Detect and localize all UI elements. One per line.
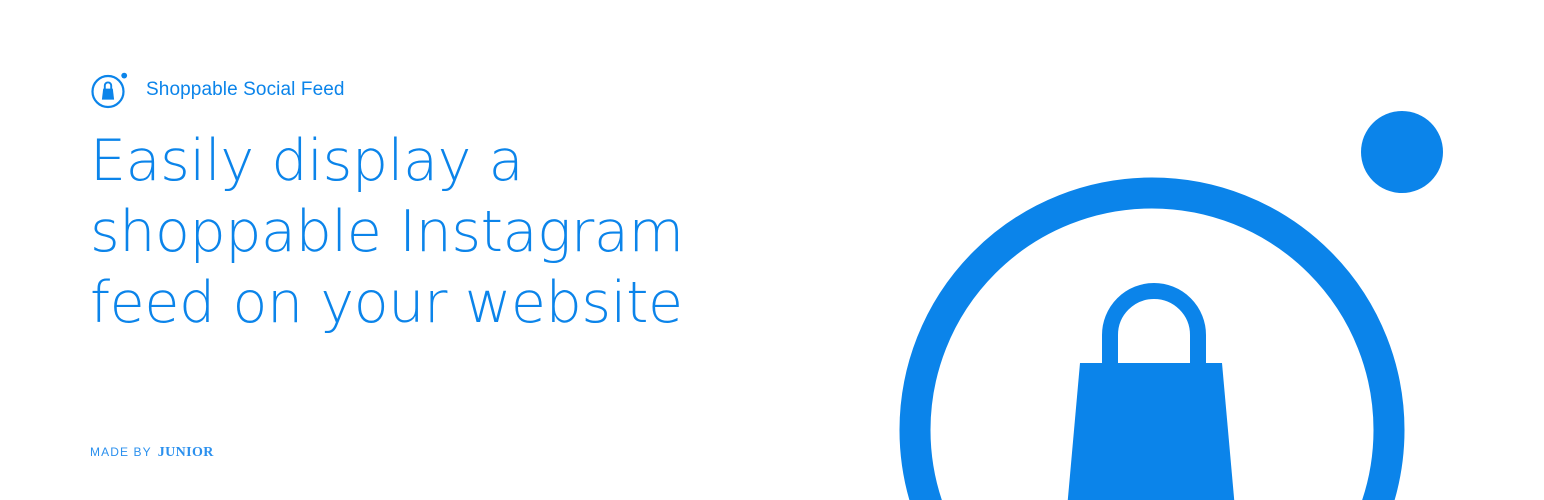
made-by-credit: MADE BY JUNIOR bbox=[90, 446, 214, 460]
shopping-bag-in-circle-icon bbox=[90, 68, 132, 110]
page-title: Easily display a shoppable Instagram fee… bbox=[90, 126, 684, 339]
circle-outline-shape bbox=[915, 193, 1389, 500]
promo-banner: Shoppable Social Feed Easily display a s… bbox=[0, 0, 1544, 500]
shopping-bag-body-shape bbox=[1066, 363, 1236, 500]
accent-dot-shape bbox=[1361, 111, 1443, 193]
made-by-label: MADE BY bbox=[90, 446, 152, 458]
content-column: Shoppable Social Feed Easily display a s… bbox=[90, 0, 810, 500]
eyebrow-badge: Shoppable Social Feed bbox=[90, 66, 345, 112]
hero-artwork bbox=[884, 0, 1544, 500]
brand-name: JUNIOR bbox=[158, 446, 214, 460]
shopping-bag-handle-shape bbox=[1110, 291, 1198, 371]
eyebrow-label: Shoppable Social Feed bbox=[146, 80, 345, 99]
